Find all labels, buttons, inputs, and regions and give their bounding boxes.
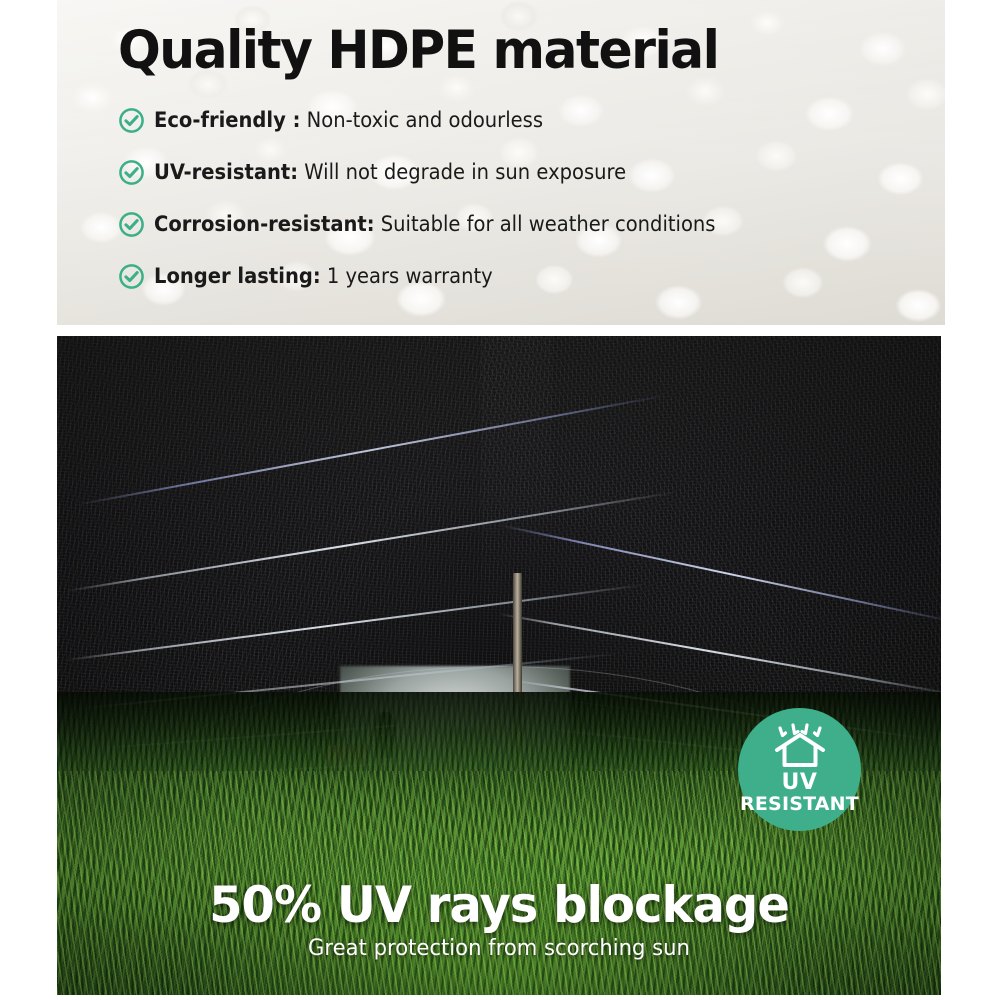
product-feature-image: Quality HDPE material Eco-friendly : Non…: [0, 0, 1000, 1000]
list-item: Eco-friendly : Non-toxic and odourless: [118, 94, 945, 146]
check-circle-icon: [118, 263, 145, 290]
uv-house-rays-icon: [771, 722, 829, 768]
check-circle-icon: [118, 211, 145, 238]
check-circle-icon: [118, 107, 145, 134]
list-item: UV-resistant: Will not degrade in sun ex…: [118, 146, 945, 198]
caption-block: 50% UV rays blockage Great protection fr…: [57, 877, 941, 963]
feature-description: Suitable for all weather conditions: [375, 212, 716, 236]
feature-label: Corrosion-resistant:: [154, 212, 375, 236]
hdpe-material-panel: Quality HDPE material Eco-friendly : Non…: [57, 0, 945, 325]
feature-description: Will not degrade in sun exposure: [298, 160, 626, 184]
feature-text: Corrosion-resistant: Suitable for all we…: [154, 212, 715, 236]
caption-headline: 50% UV rays blockage: [75, 877, 924, 933]
caption-subtitle: Great protection from scorching sun: [75, 935, 924, 963]
badge-line-2: RESISTANT: [740, 794, 859, 815]
check-circle-icon: [118, 159, 145, 186]
feature-label: Longer lasting:: [154, 264, 321, 288]
badge-line-1: UV: [782, 771, 818, 794]
feature-list: Eco-friendly : Non-toxic and odourless U…: [118, 94, 945, 302]
feature-label: Eco-friendly :: [154, 108, 300, 132]
list-item: Longer lasting: 1 years warranty: [118, 250, 945, 302]
feature-text: Longer lasting: 1 years warranty: [154, 264, 493, 288]
feature-description: Non-toxic and odourless: [300, 108, 543, 132]
uv-resistant-badge: UV RESISTANT: [738, 708, 861, 831]
feature-text: UV-resistant: Will not degrade in sun ex…: [154, 160, 626, 184]
feature-label: UV-resistant:: [154, 160, 298, 184]
feature-description: 1 years warranty: [321, 264, 493, 288]
top-panel-content: Quality HDPE material Eco-friendly : Non…: [57, 0, 945, 325]
feature-text: Eco-friendly : Non-toxic and odourless: [154, 108, 543, 132]
shade-tunnel-photo-panel: UV RESISTANT 50% UV rays blockage Great …: [57, 336, 941, 995]
page-title: Quality HDPE material: [118, 20, 904, 82]
list-item: Corrosion-resistant: Suitable for all we…: [118, 198, 945, 250]
